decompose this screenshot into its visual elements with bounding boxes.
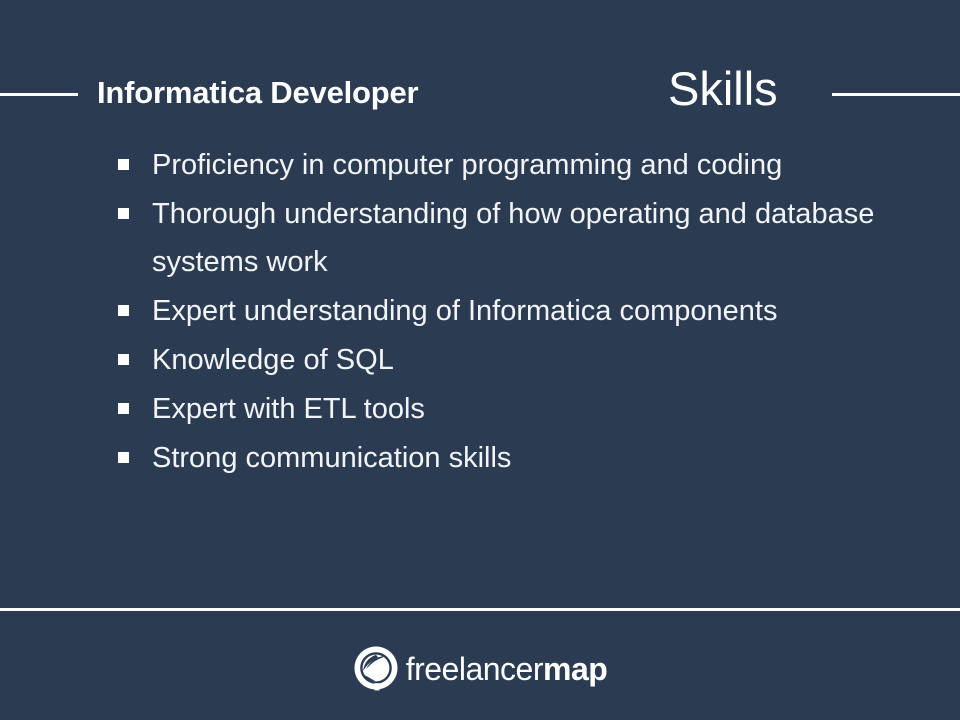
- logo-word-freelancer: freelancer: [406, 651, 543, 687]
- square-bullet-icon: [118, 452, 129, 463]
- slide-canvas: Informatica Developer Skills Proficiency…: [0, 0, 960, 720]
- logo-wordmark: freelancermap: [406, 653, 608, 685]
- square-bullet-icon: [118, 354, 129, 365]
- logo-word-map: map: [543, 651, 607, 687]
- header-rule-left: [0, 93, 78, 96]
- list-item-label: Expert understanding of Informatica comp…: [152, 287, 878, 335]
- slide-footer: freelancermap: [0, 611, 960, 720]
- list-item: Strong communication skills: [118, 434, 878, 482]
- list-item: Expert with ETL tools: [118, 385, 878, 433]
- section-label: Skills: [668, 58, 778, 120]
- header-rule-right: [832, 93, 960, 96]
- page-title: Informatica Developer: [97, 62, 418, 124]
- list-item-label: Expert with ETL tools: [152, 385, 878, 433]
- skills-list: Proficiency in computer programming and …: [118, 141, 878, 483]
- slide-header: Informatica Developer Skills: [0, 62, 960, 124]
- list-item: Expert understanding of Informatica comp…: [118, 287, 878, 335]
- list-item: Knowledge of SQL: [118, 336, 878, 384]
- square-bullet-icon: [118, 305, 129, 316]
- list-item-label: Thorough understanding of how operating …: [152, 190, 878, 286]
- list-item: Proficiency in computer programming and …: [118, 141, 878, 189]
- freelancermap-logo: freelancermap: [353, 645, 608, 691]
- list-item-label: Strong communication skills: [152, 434, 878, 482]
- list-item: Thorough understanding of how operating …: [118, 190, 878, 286]
- square-bullet-icon: [118, 208, 129, 219]
- list-item-label: Knowledge of SQL: [152, 336, 878, 384]
- list-item-label: Proficiency in computer programming and …: [152, 141, 878, 189]
- square-bullet-icon: [118, 403, 129, 414]
- square-bullet-icon: [118, 159, 129, 170]
- freelancermap-aperture-icon: [353, 645, 399, 691]
